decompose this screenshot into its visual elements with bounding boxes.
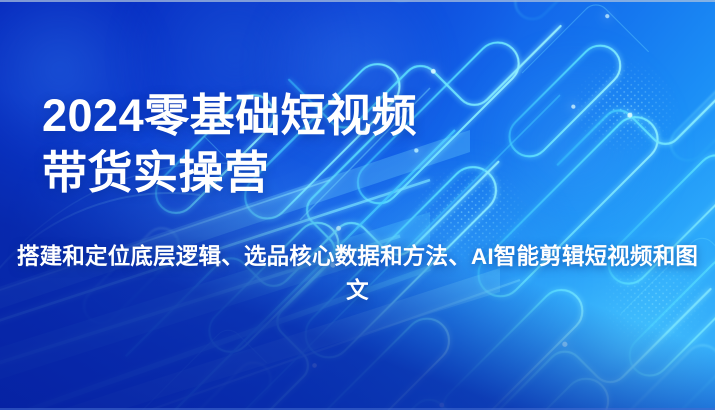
course-promo-banner: 2024零基础短视频 带货实操营 搭建和定位底层逻辑、选品核心数据和方法、AI智…	[0, 0, 715, 410]
circuit-maze-graphic	[0, 0, 715, 410]
banner-title: 2024零基础短视频 带货实操营	[42, 88, 662, 201]
top-border-line	[0, 0, 715, 2]
banner-subtitle: 搭建和定位底层逻辑、选品核心数据和方法、AI智能剪辑短视频和图文	[10, 240, 705, 308]
